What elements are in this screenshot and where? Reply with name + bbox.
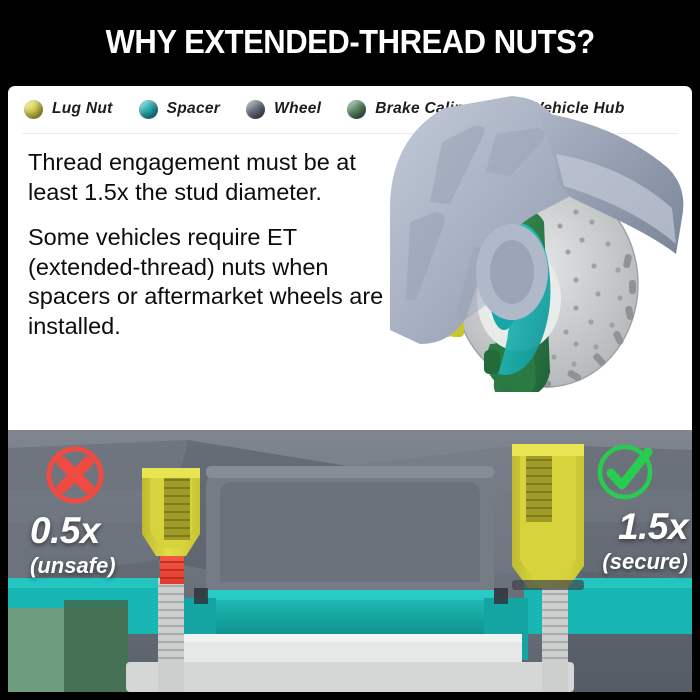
spacer-swatch-icon	[139, 100, 158, 119]
body-copy: Thread engagement must be at least 1.5x …	[28, 148, 408, 358]
page-title: WHY EXTENDED-THREAD NUTS?	[105, 23, 594, 61]
info-card: Lug Nut Spacer Wheel Brake Caliper Vehic…	[8, 86, 692, 436]
lug-nut-swatch-icon	[24, 100, 43, 119]
legend-label-spacer: Spacer	[167, 100, 221, 118]
legend-item-lug-nut: Lug Nut	[24, 100, 113, 119]
legend-label-wheel: Wheel	[274, 100, 321, 118]
unsafe-ratio-note: (unsafe)	[30, 552, 116, 580]
wheel-swatch-icon	[246, 100, 265, 119]
secure-ratio-label: 1.5x (secure)	[564, 508, 688, 576]
unsafe-ratio-label: 0.5x (unsafe)	[30, 512, 116, 580]
body-paragraph-1: Thread engagement must be at least 1.5x …	[28, 148, 408, 207]
wheel-brake-assembly-illustration	[386, 94, 692, 392]
thread-engagement-comparison: 0.5x (unsafe) 1.5x (secure)	[8, 430, 692, 692]
title-bar: WHY EXTENDED-THREAD NUTS?	[0, 0, 700, 84]
legend-label-lug-nut: Lug Nut	[52, 100, 113, 118]
legend-item-spacer: Spacer	[139, 100, 221, 119]
secure-ratio-value: 1.5x	[564, 508, 688, 545]
check-circle-icon	[596, 440, 658, 502]
unsafe-ratio-value: 0.5x	[30, 512, 116, 549]
body-paragraph-2: Some vehicles require ET (extended-threa…	[28, 223, 408, 341]
brake-caliper-swatch-icon	[347, 100, 366, 119]
infographic-root: WHY EXTENDED-THREAD NUTS? Lug Nut Spacer…	[0, 0, 700, 700]
legend-item-wheel: Wheel	[246, 100, 321, 119]
secure-ratio-note: (secure)	[564, 548, 688, 576]
x-circle-icon	[44, 444, 106, 506]
